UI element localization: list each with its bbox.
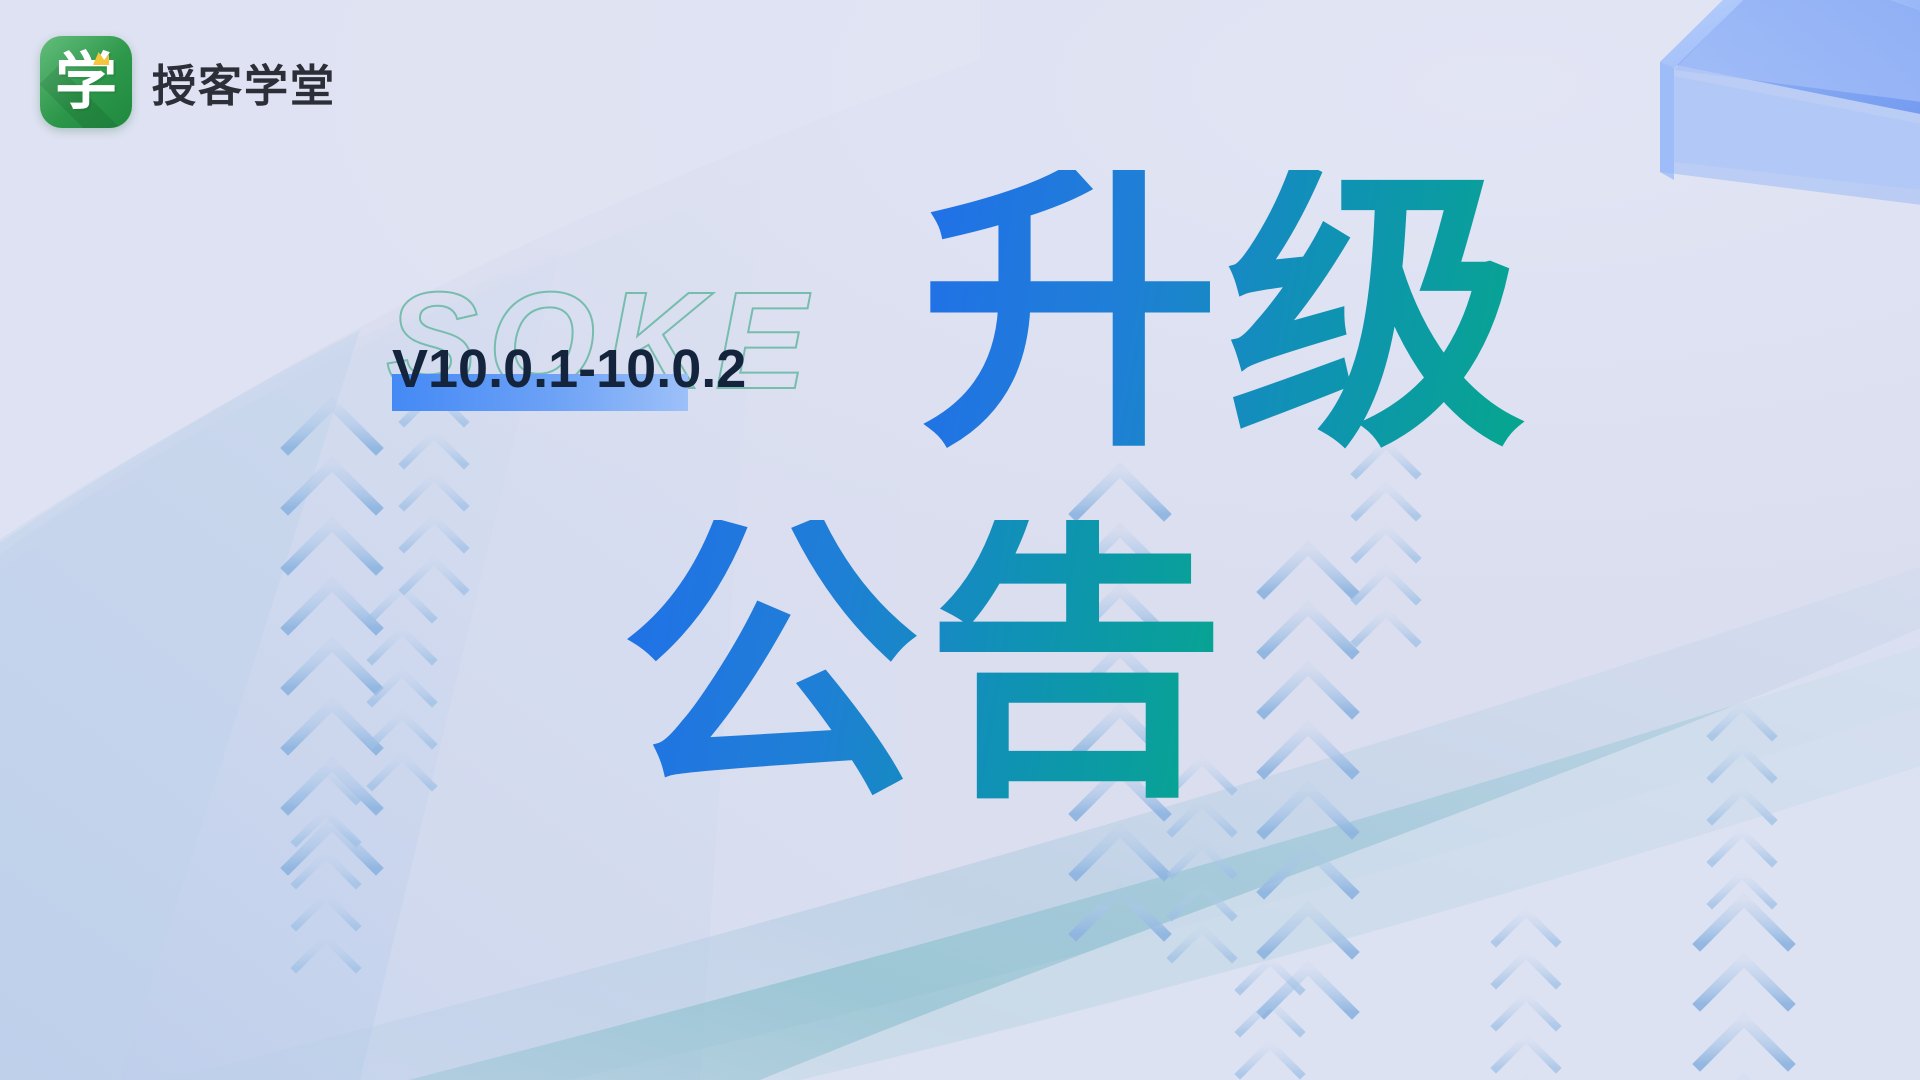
brand-logo[interactable]: 学 授客学堂 [40,36,336,128]
translucent-glass-cube-icon [1630,0,1920,206]
announcement-banner: 学 授客学堂 SOKE V10.0.1-10.0.2 升级 公告 [0,0,1920,1080]
logo-glyph: 学 [40,36,132,128]
hero-title-line-1: 升级 [920,170,1532,458]
xue-logo-icon: 学 [40,36,132,128]
hero-title-line-2: 公告 [620,520,1232,808]
brand-name: 授客学堂 [152,50,336,114]
